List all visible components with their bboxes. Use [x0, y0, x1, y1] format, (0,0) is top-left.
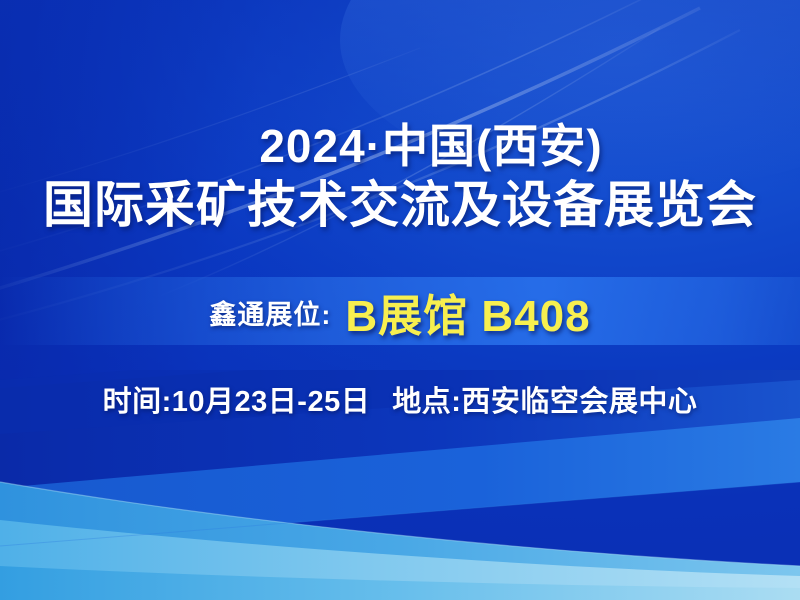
event-meta-row: 时间:10月23日-25日 地点:西安临空会展中心: [0, 378, 800, 420]
booth-label: 鑫通展位:: [209, 293, 331, 332]
title-line-1: 2024·中国(西安): [0, 118, 800, 174]
poster-title: 2024·中国(西安) 国际采矿技术交流及设备展览会: [0, 118, 800, 236]
booth-number: B展馆 B408: [345, 280, 590, 344]
event-date: 时间:10月23日-25日: [103, 378, 371, 420]
event-venue: 地点:西安临空会展中心: [392, 378, 697, 420]
booth-info-row: 鑫通展位: B展馆 B408: [0, 283, 800, 341]
event-poster: 2024·中国(西安) 国际采矿技术交流及设备展览会 鑫通展位: B展馆 B40…: [0, 0, 800, 600]
title-line-2: 国际采矿技术交流及设备展览会: [0, 174, 800, 236]
